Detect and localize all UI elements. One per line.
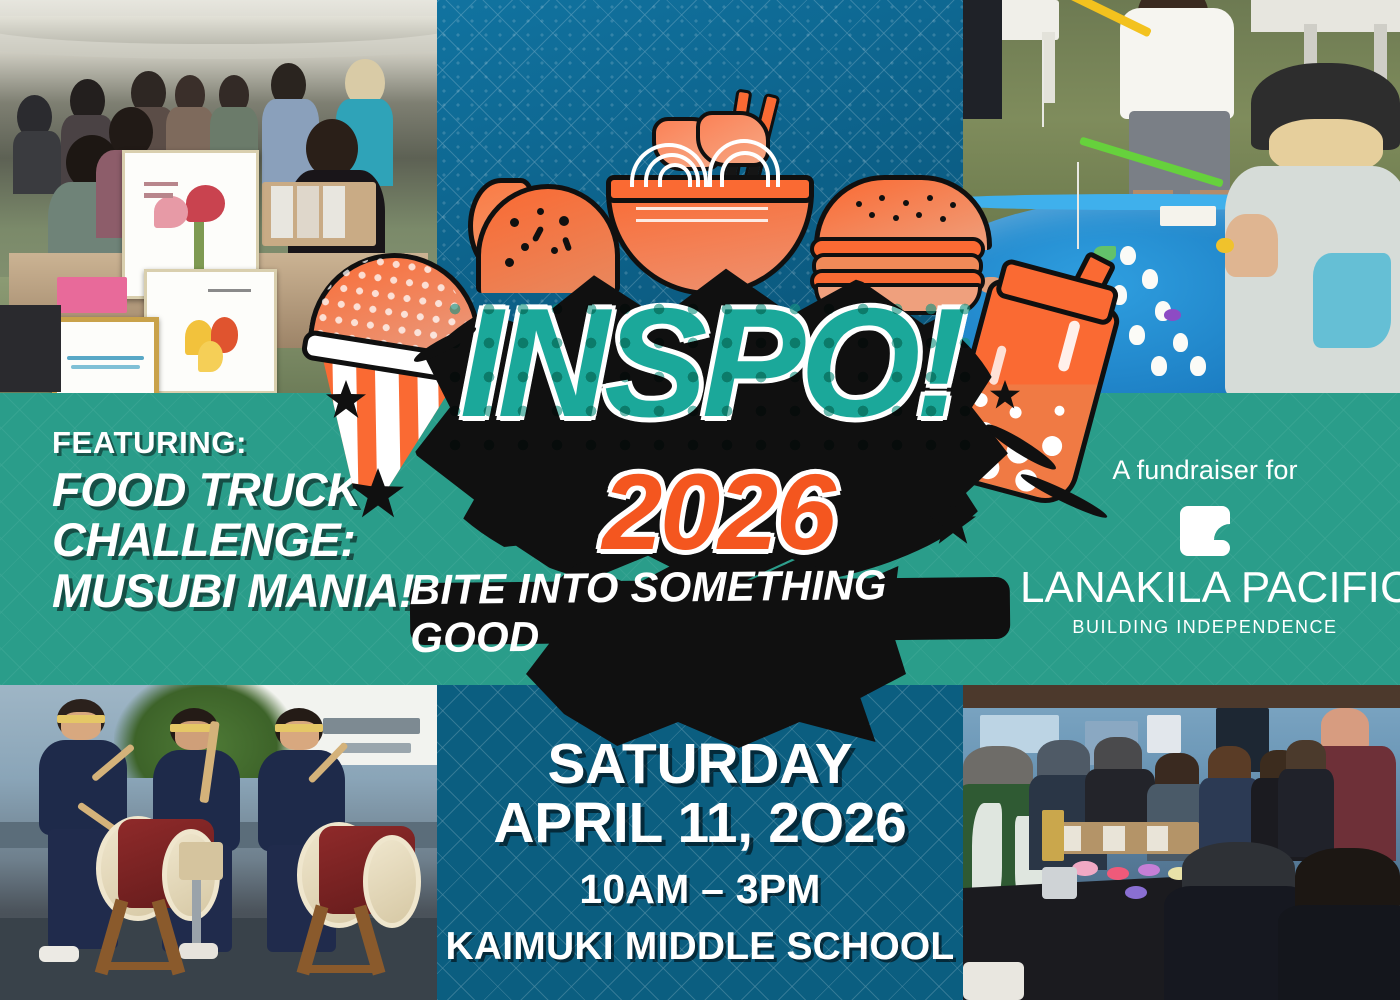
event-details-block: SATURDAY APRIL 11, 2O26 10AM – 3PM KAIMU… [437, 735, 963, 969]
inspo-logo-lockup: INSPO! 2026 BITE INTO SOMETHING GOOD [290, 80, 1120, 700]
event-year: 2026 [528, 458, 908, 566]
tagline-banner: BITE INTO SOMETHING GOOD [410, 577, 1011, 645]
event-time: 10AM – 3PM [437, 866, 963, 913]
event-venue: KAIMUKI MIDDLE SCHOOL [437, 925, 963, 969]
tagline-text: BITE INTO SOMETHING GOOD [410, 560, 1011, 662]
photo-taiko-drummers [0, 683, 437, 1000]
event-poster: FEATURING: FOOD TRUCK CHALLENGE: MUSUBI … [0, 0, 1400, 1000]
event-day: SATURDAY [437, 735, 963, 794]
streak-confetti [1018, 470, 1110, 523]
star-confetti [326, 380, 366, 420]
lanakila-bracket-mark-icon [1178, 504, 1232, 558]
event-date: APRIL 11, 2O26 [437, 794, 963, 853]
photo-craft-fair-indoor [963, 683, 1400, 1000]
star-confetti [352, 468, 404, 520]
event-title: INSPO! [438, 292, 983, 435]
star-confetti [990, 380, 1020, 410]
